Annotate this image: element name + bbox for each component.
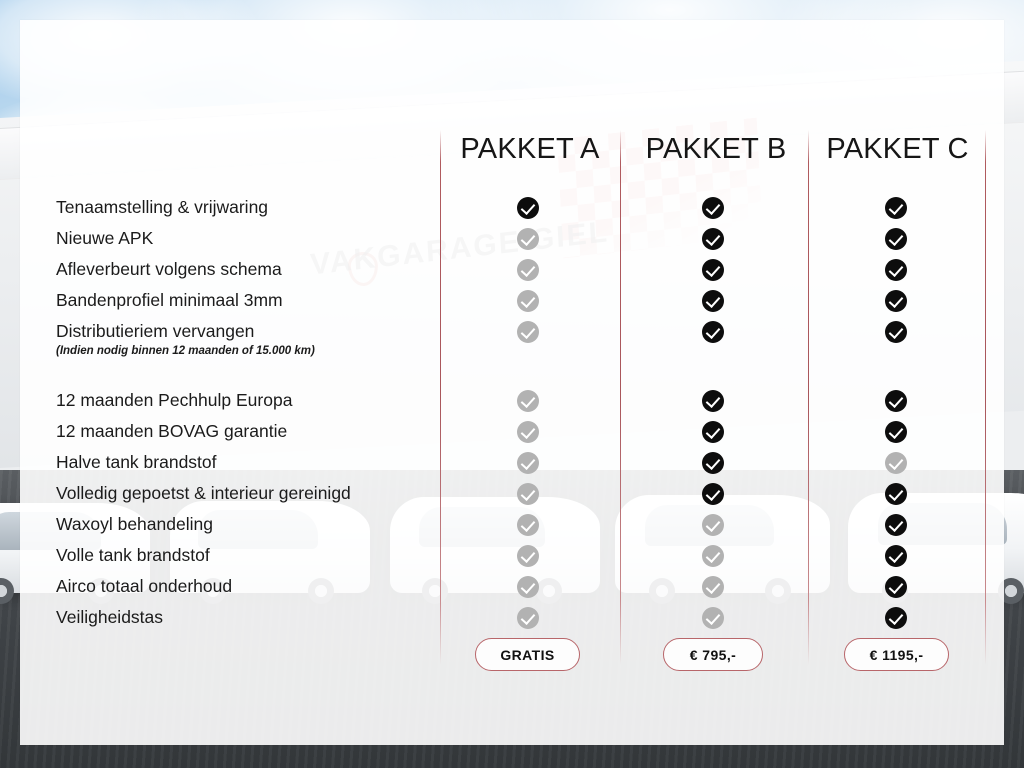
- check-included-icon: [702, 321, 724, 343]
- price-pill-pakket-b[interactable]: € 795,-: [663, 638, 763, 671]
- check-included-icon: [885, 290, 907, 312]
- column-divider: [620, 130, 621, 665]
- check-included-icon: [885, 514, 907, 536]
- check-slot: [701, 192, 725, 223]
- check-excluded-icon: [517, 390, 539, 412]
- column-header-pakket-c: PAKKET C: [810, 133, 985, 166]
- check-excluded-icon: [517, 483, 539, 505]
- check-group-spacer: [884, 359, 908, 385]
- column-divider: [808, 130, 809, 665]
- feature-list: Tenaamstelling & vrijwaring Nieuwe APK A…: [56, 192, 446, 633]
- check-slot: [884, 478, 908, 509]
- check-included-icon: [702, 390, 724, 412]
- check-slot: [884, 254, 908, 285]
- check-excluded-icon: [517, 514, 539, 536]
- check-slot: [516, 385, 540, 416]
- check-slot: [701, 447, 725, 478]
- check-group-spacer: [701, 359, 725, 385]
- check-excluded-icon: [517, 290, 539, 312]
- check-excluded-icon: [517, 259, 539, 281]
- check-slot: [884, 192, 908, 223]
- package-comparison-panel: PAKKET A PAKKET B PAKKET C Tenaamstellin…: [20, 20, 1004, 745]
- check-slot: [701, 416, 725, 447]
- check-included-icon: [885, 576, 907, 598]
- check-included-icon: [702, 228, 724, 250]
- check-slot: [516, 571, 540, 602]
- check-excluded-icon: [517, 421, 539, 443]
- check-slot: [701, 385, 725, 416]
- feature-label: Veiligheidstas: [56, 602, 446, 633]
- feature-label: Volledig gepoetst & interieur gereinigd: [56, 478, 446, 509]
- check-column-pakket-b: [701, 192, 725, 633]
- check-included-icon: [885, 321, 907, 343]
- check-included-icon: [702, 197, 724, 219]
- check-excluded-icon: [702, 514, 724, 536]
- check-slot: [701, 540, 725, 571]
- group-spacer: [56, 359, 446, 385]
- check-slot: [701, 571, 725, 602]
- check-included-icon: [885, 197, 907, 219]
- check-slot: [884, 447, 908, 478]
- check-column-pakket-c: [884, 192, 908, 633]
- check-excluded-icon: [702, 545, 724, 567]
- check-included-icon: [885, 607, 907, 629]
- column-header-pakket-b: PAKKET B: [624, 133, 808, 166]
- check-excluded-icon: [702, 607, 724, 629]
- check-slot: [884, 223, 908, 254]
- check-slot: [884, 385, 908, 416]
- feature-label: Afleverbeurt volgens schema: [56, 254, 446, 285]
- check-slot: [516, 254, 540, 285]
- check-slot: [701, 478, 725, 509]
- check-excluded-icon: [517, 607, 539, 629]
- feature-label: Nieuwe APK: [56, 223, 446, 254]
- check-slot: [516, 478, 540, 509]
- feature-label: Volle tank brandstof: [56, 540, 446, 571]
- check-excluded-icon: [517, 228, 539, 250]
- check-slot: [701, 285, 725, 316]
- feature-label: 12 maanden BOVAG garantie: [56, 416, 446, 447]
- check-included-icon: [517, 197, 539, 219]
- check-excluded-icon: [517, 321, 539, 343]
- feature-label: Waxoyl behandeling: [56, 509, 446, 540]
- check-slot-spacer: [884, 343, 908, 359]
- price-pill-pakket-c[interactable]: € 1195,-: [844, 638, 949, 671]
- check-excluded-icon: [517, 576, 539, 598]
- column-divider: [985, 130, 986, 665]
- check-slot: [884, 540, 908, 571]
- check-slot: [701, 509, 725, 540]
- check-excluded-icon: [885, 452, 907, 474]
- check-slot: [516, 509, 540, 540]
- check-slot: [884, 285, 908, 316]
- price-pill-pakket-a[interactable]: GRATIS: [475, 638, 580, 671]
- check-slot: [884, 416, 908, 447]
- check-slot-spacer: [516, 343, 540, 359]
- check-included-icon: [885, 228, 907, 250]
- check-slot: [516, 540, 540, 571]
- check-slot: [701, 602, 725, 633]
- check-included-icon: [702, 290, 724, 312]
- check-included-icon: [702, 421, 724, 443]
- check-excluded-icon: [517, 545, 539, 567]
- check-included-icon: [885, 390, 907, 412]
- check-included-icon: [702, 259, 724, 281]
- feature-subnote: (Indien nodig binnen 12 maanden of 15.00…: [56, 343, 446, 359]
- check-included-icon: [885, 483, 907, 505]
- column-header-pakket-a: PAKKET A: [440, 133, 620, 166]
- check-slot: [516, 602, 540, 633]
- feature-label: Halve tank brandstof: [56, 447, 446, 478]
- check-included-icon: [885, 545, 907, 567]
- check-slot: [884, 571, 908, 602]
- check-included-icon: [702, 483, 724, 505]
- feature-label: 12 maanden Pechhulp Europa: [56, 385, 446, 416]
- check-slot: [516, 223, 540, 254]
- check-slot: [701, 223, 725, 254]
- check-slot: [516, 447, 540, 478]
- check-excluded-icon: [702, 576, 724, 598]
- check-slot: [516, 416, 540, 447]
- check-excluded-icon: [517, 452, 539, 474]
- check-slot: [701, 254, 725, 285]
- check-included-icon: [702, 452, 724, 474]
- check-slot: [516, 192, 540, 223]
- check-group-spacer: [516, 359, 540, 385]
- check-slot-spacer: [701, 343, 725, 359]
- check-slot: [884, 602, 908, 633]
- check-column-pakket-a: [516, 192, 540, 633]
- check-included-icon: [885, 259, 907, 281]
- feature-label: Airco totaal onderhoud: [56, 571, 446, 602]
- check-slot: [884, 509, 908, 540]
- check-included-icon: [885, 421, 907, 443]
- check-slot: [516, 285, 540, 316]
- feature-label: Tenaamstelling & vrijwaring: [56, 192, 446, 223]
- feature-label: Bandenprofiel minimaal 3mm: [56, 285, 446, 316]
